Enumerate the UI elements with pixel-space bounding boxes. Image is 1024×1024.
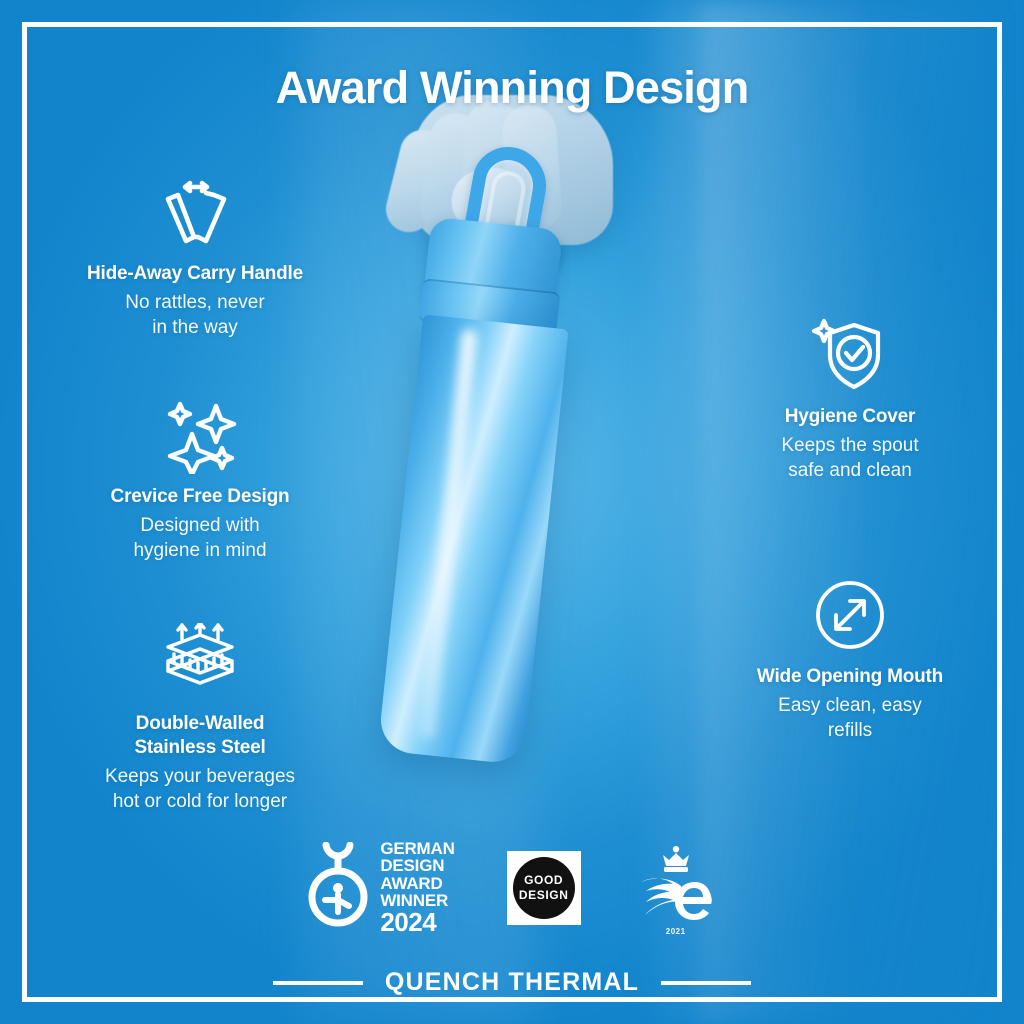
feature-hide-away-carry-handle: Hide-Away Carry Handle No rattles, never… bbox=[30, 172, 360, 340]
footer-rule-right bbox=[661, 981, 751, 985]
sparkles-icon bbox=[40, 395, 360, 475]
awards-row: GERMAN DESIGN AWARD WINNER 2024 GOOD DES… bbox=[0, 840, 1024, 936]
german-design-award-mark bbox=[305, 842, 371, 933]
gda-line: GERMAN bbox=[380, 840, 454, 857]
feature-title: Hygiene Cover bbox=[700, 405, 1000, 429]
feature-hygiene-cover: Hygiene Cover Keeps the spout safe and c… bbox=[700, 315, 1000, 483]
product-photo bbox=[355, 95, 685, 795]
feature-description: Keeps the spout safe and clean bbox=[700, 433, 1000, 483]
feature-description-line: hot or cold for longer bbox=[40, 789, 360, 814]
award-german-design: GERMAN DESIGN AWARD WINNER 2024 bbox=[305, 840, 454, 936]
page-title: Award Winning Design bbox=[0, 62, 1024, 114]
feature-description-line: Designed with bbox=[40, 513, 360, 538]
good-design-badge: GOOD DESIGN bbox=[507, 851, 581, 925]
gda-year: 2024 bbox=[380, 909, 454, 936]
gda-line: DESIGN bbox=[380, 857, 454, 874]
footer: QUENCH THERMAL bbox=[0, 968, 1024, 997]
good-design-line: DESIGN bbox=[519, 888, 569, 903]
feature-double-walled-stainless-steel: Double-Walled Stainless Steel Keeps your… bbox=[40, 622, 360, 814]
feature-description-line: Easy clean, easy bbox=[690, 693, 1010, 718]
expand-arrows-circle-icon bbox=[690, 575, 1010, 655]
bottle-body bbox=[378, 314, 569, 765]
feature-title: Double-Walled Stainless Steel bbox=[40, 712, 360, 760]
shield-check-icon bbox=[700, 315, 1000, 395]
feature-title: Crevice Free Design bbox=[40, 485, 360, 509]
feature-description-line: No rattles, never bbox=[30, 290, 360, 315]
infographic-canvas: Award Winning Design Hide-Away Carry Han… bbox=[0, 0, 1024, 1024]
feature-description: Easy clean, easy refills bbox=[690, 693, 1010, 743]
feature-title: Wide Opening Mouth bbox=[690, 665, 1010, 689]
queens-award-year: 2021 bbox=[633, 927, 719, 936]
feature-title-line: Stainless Steel bbox=[40, 736, 360, 760]
feature-description-line: Keeps the spout bbox=[700, 433, 1000, 458]
carry-handle-icon bbox=[30, 172, 360, 252]
feature-description: No rattles, never in the way bbox=[30, 290, 360, 340]
feature-description-line: Keeps your beverages bbox=[40, 764, 360, 789]
feature-description: Designed with hygiene in mind bbox=[40, 513, 360, 563]
water-bottle bbox=[355, 215, 600, 772]
german-design-award-text: GERMAN DESIGN AWARD WINNER 2024 bbox=[380, 840, 454, 936]
brand-name: QUENCH THERMAL bbox=[385, 968, 639, 997]
feature-crevice-free-design: Crevice Free Design Designed with hygien… bbox=[40, 395, 360, 563]
feature-description: Keeps your beverages hot or cold for lon… bbox=[40, 764, 360, 814]
footer-rule-left bbox=[273, 981, 363, 985]
layers-insulation-icon bbox=[40, 622, 360, 702]
good-design-line: GOOD bbox=[524, 873, 563, 888]
feature-description-line: safe and clean bbox=[700, 458, 1000, 483]
gda-line: AWARD bbox=[380, 875, 454, 892]
feature-wide-opening-mouth: Wide Opening Mouth Easy clean, easy refi… bbox=[690, 575, 1010, 743]
feature-description-line: refills bbox=[690, 718, 1010, 743]
good-design-circle: GOOD DESIGN bbox=[513, 857, 575, 919]
feature-title: Hide-Away Carry Handle bbox=[30, 262, 360, 286]
feature-title-line: Double-Walled bbox=[40, 712, 360, 736]
queens-award-enterprise-icon: 2021 bbox=[633, 842, 719, 934]
feature-description-line: hygiene in mind bbox=[40, 538, 360, 563]
feature-description-line: in the way bbox=[30, 315, 360, 340]
